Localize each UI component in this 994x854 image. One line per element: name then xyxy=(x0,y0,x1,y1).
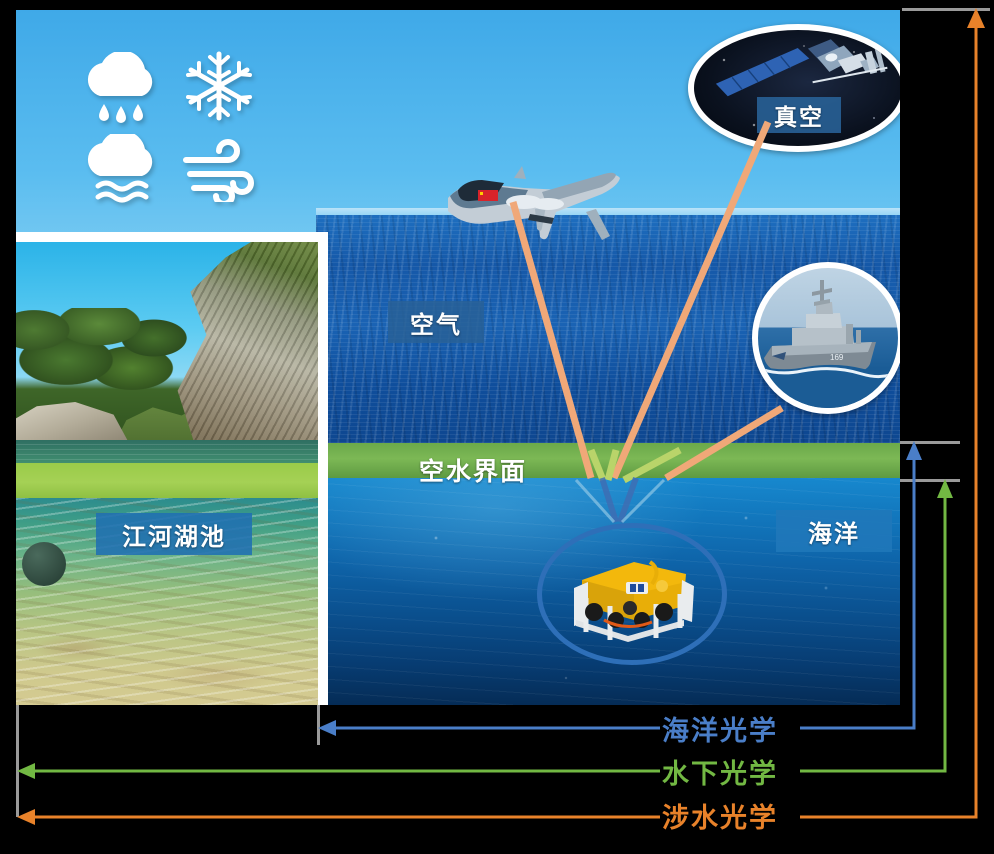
rov-vehicle xyxy=(564,550,700,651)
tick-left-ocean xyxy=(317,705,320,745)
rain-cloud-icon xyxy=(78,52,164,135)
river-photo-boulder xyxy=(22,542,66,586)
figure-root: 真空 169 xyxy=(0,0,994,854)
label-ocean: 海洋 xyxy=(776,510,892,552)
river-photo xyxy=(16,242,318,705)
label-vacuum: 真空 xyxy=(757,97,841,133)
river-interface-band xyxy=(16,463,318,498)
ocean-optics-label: 海洋光学 xyxy=(662,709,778,748)
naval-ship-inset: 169 xyxy=(752,262,900,414)
tick-interface-bottom xyxy=(900,479,960,482)
water-optics-label: 涉水光学 xyxy=(662,796,778,835)
wind-icon xyxy=(178,138,262,207)
tick-interface-top xyxy=(900,441,960,444)
label-air-water-interface: 空水界面 xyxy=(402,453,544,487)
tick-top xyxy=(902,8,990,11)
snowflake-icon xyxy=(182,48,256,129)
underwater-optics-label: 水下光学 xyxy=(662,752,778,791)
svg-text:169: 169 xyxy=(830,353,844,362)
label-rivers-lakes: 江河湖池 xyxy=(96,513,252,555)
uav-drone xyxy=(438,162,638,257)
scene-collage: 真空 169 xyxy=(16,10,900,705)
tick-left xyxy=(16,705,19,817)
label-air: 空气 xyxy=(388,301,484,343)
fog-cloud-icon xyxy=(78,134,164,211)
